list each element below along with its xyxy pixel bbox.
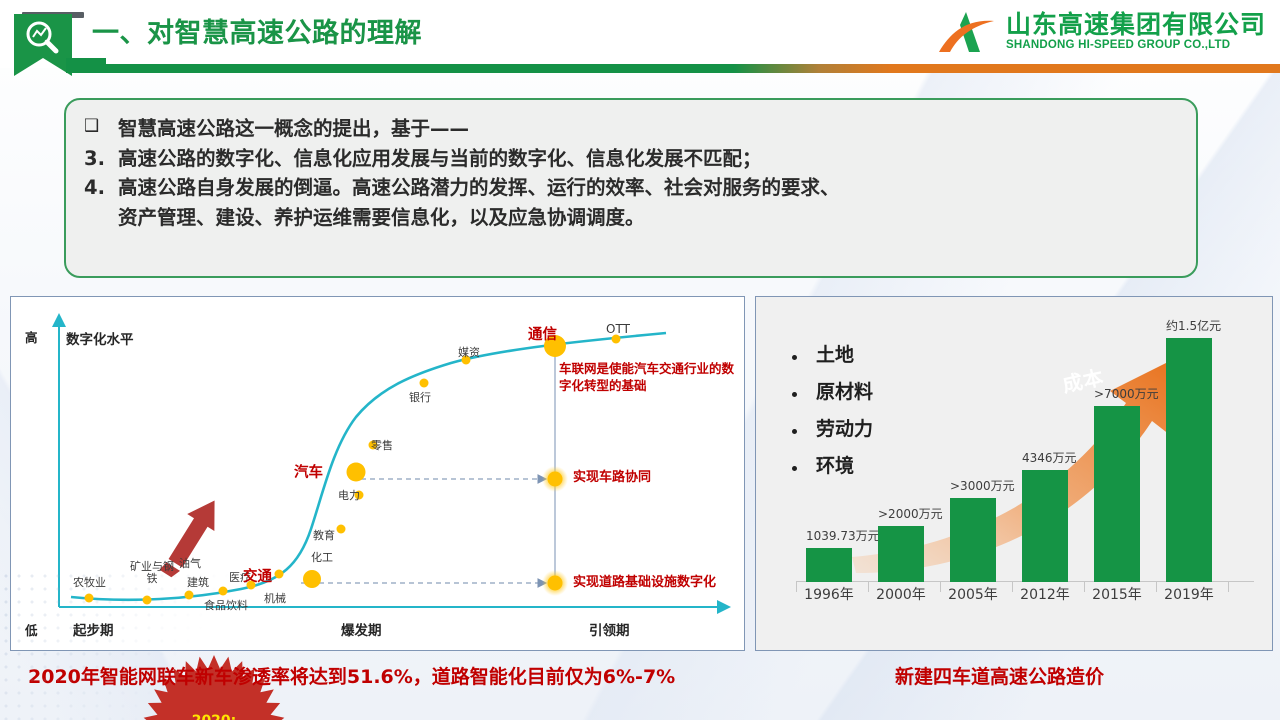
- textbox-item-3: 3. 高速公路的数字化、信息化应用发展与当前的数字化、信息化发展不匹配；: [84, 144, 1178, 174]
- node-label-youqi: 油气: [179, 555, 201, 571]
- node-label-ott: OTT: [606, 322, 630, 336]
- bar-2015: >7000万元: [1094, 385, 1140, 582]
- construction-cost-chart-panel: 土地 原材料 劳动力 环境 成本 1039.73万元: [755, 296, 1273, 651]
- bar-value-label: 4346万元: [1022, 449, 1068, 466]
- slide-canvas: 一、对智慧高速公路的理解 山东高速集团有限公司 SHANDONG HI-SPEE…: [0, 0, 1280, 720]
- textbox-line-0: ❑ 智慧高速公路这一概念的提出，基于——: [84, 114, 1178, 144]
- textbox-item-4-cont: 资产管理、建设、养护运维需要信息化，以及应急协调调度。: [84, 203, 1178, 233]
- node-label-dianli: 电力: [338, 487, 360, 503]
- node-label-jiaotong: 交通: [243, 565, 272, 586]
- node-label-jixie: 机械: [264, 590, 286, 606]
- logo-mark-icon: [936, 9, 998, 55]
- x-tick-label: 2015年: [1082, 584, 1152, 604]
- bar-value-label: >7000万元: [1094, 385, 1140, 402]
- x-tick-label: 1996年: [794, 584, 864, 604]
- y-axis-low-label: 低: [25, 620, 38, 639]
- phase-label-2: 引领期: [589, 619, 630, 639]
- node-label-jianzhu: 建筑: [187, 574, 209, 590]
- cost-bars: 1039.73万元 >2000万元 >3000万元 4346万元 >7000万元…: [796, 320, 1254, 610]
- square-bullet-icon: ❑: [84, 114, 118, 144]
- content-textbox: ❑ 智慧高速公路这一概念的提出，基于—— 3. 高速公路的数字化、信息化应用发展…: [64, 98, 1198, 278]
- bar-2000: >2000万元: [878, 505, 924, 582]
- node-label-tongxin: 通信: [528, 323, 557, 344]
- x-tick-label: 2019年: [1154, 584, 1224, 604]
- title-divider: [66, 64, 1280, 73]
- phase-label-1: 爆发期: [341, 619, 382, 639]
- node-label-kuangye: 矿业与钢铁: [129, 561, 175, 585]
- x-tick-label: 2000年: [866, 584, 936, 604]
- bar-value-label: >3000万元: [950, 477, 996, 494]
- bar-2005: >3000万元: [950, 477, 996, 582]
- bar-2012: 4346万元: [1022, 449, 1068, 582]
- node-label-nongmuye: 农牧业: [73, 574, 106, 590]
- company-name-en: SHANDONG HI-SPEED GROUP CO.,LTD: [1006, 40, 1266, 52]
- bar-value-label: 约1.5亿元: [1166, 317, 1212, 334]
- annotation-top: 车联网是使能汽车交通行业的数字化转型的基础: [559, 361, 737, 395]
- node-label-huagong: 化工: [311, 549, 333, 565]
- node-label-yinhang: 银行: [409, 389, 431, 405]
- indent-spacer: [84, 203, 118, 233]
- textbox-item-4-text: 高速公路自身发展的倒逼。高速公路潜力的发挥、运行的效率、社会对服务的要求、: [118, 173, 1178, 203]
- bar-1996: 1039.73万元: [806, 527, 852, 582]
- annotation-bottom: 实现道路基础设施数字化: [573, 574, 716, 592]
- node-label-qiche: 汽车: [294, 461, 323, 482]
- textbox-item-3-text: 高速公路的数字化、信息化应用发展与当前的数字化、信息化发展不匹配；: [118, 144, 1178, 174]
- textbox-item-4-text2: 资产管理、建设、养护运维需要信息化，以及应急协调调度。: [118, 203, 1178, 233]
- annotation-mid: 实现车路协同: [573, 469, 651, 487]
- magnifier-chart-icon: [14, 14, 72, 76]
- node-label-shipin: 食品饮料: [204, 597, 248, 613]
- bar-value-label: 1039.73万元: [806, 527, 852, 544]
- caption-right: 新建四车道高速公路造价: [895, 662, 1104, 689]
- node-label-meizi: 媒资: [458, 344, 480, 360]
- bar-2019: 约1.5亿元: [1166, 317, 1212, 582]
- x-tick-label: 2005年: [938, 584, 1008, 604]
- y-axis-high-label: 高: [25, 327, 38, 346]
- caption-left: 2020年智能网联车新车渗透率将达到51.6%，道路智能化目前仅为6%-7%: [28, 662, 675, 689]
- textbox-item-3-number: 3.: [84, 144, 118, 174]
- x-tick-label: 2012年: [1010, 584, 1080, 604]
- phase-label-0: 起步期: [73, 619, 114, 639]
- page-title: 一、对智慧高速公路的理解: [92, 16, 652, 52]
- textbox-item-4-number: 4.: [84, 173, 118, 203]
- company-name-cn: 山东高速集团有限公司: [1006, 12, 1266, 37]
- node-label-lingshou: 零售: [371, 437, 393, 453]
- bar-value-label: >2000万元: [878, 505, 924, 522]
- textbox-line-0-text: 智慧高速公路这一概念的提出，基于——: [118, 114, 1178, 144]
- digital-maturity-chart-panel: 高 低 数字化水平 起步期 爆发期 引领期 2020: 爆发元年 农牧业 矿业与…: [10, 296, 745, 651]
- node-label-jiaoyu: 教育: [313, 527, 335, 543]
- y-axis-title: 数字化水平: [66, 328, 134, 348]
- company-logo: 山东高速集团有限公司 SHANDONG HI-SPEED GROUP CO.,L…: [936, 6, 1266, 58]
- burst-line-1: 2020:: [192, 712, 237, 720]
- textbox-item-4: 4. 高速公路自身发展的倒逼。高速公路潜力的发挥、运行的效率、社会对服务的要求、: [84, 173, 1178, 203]
